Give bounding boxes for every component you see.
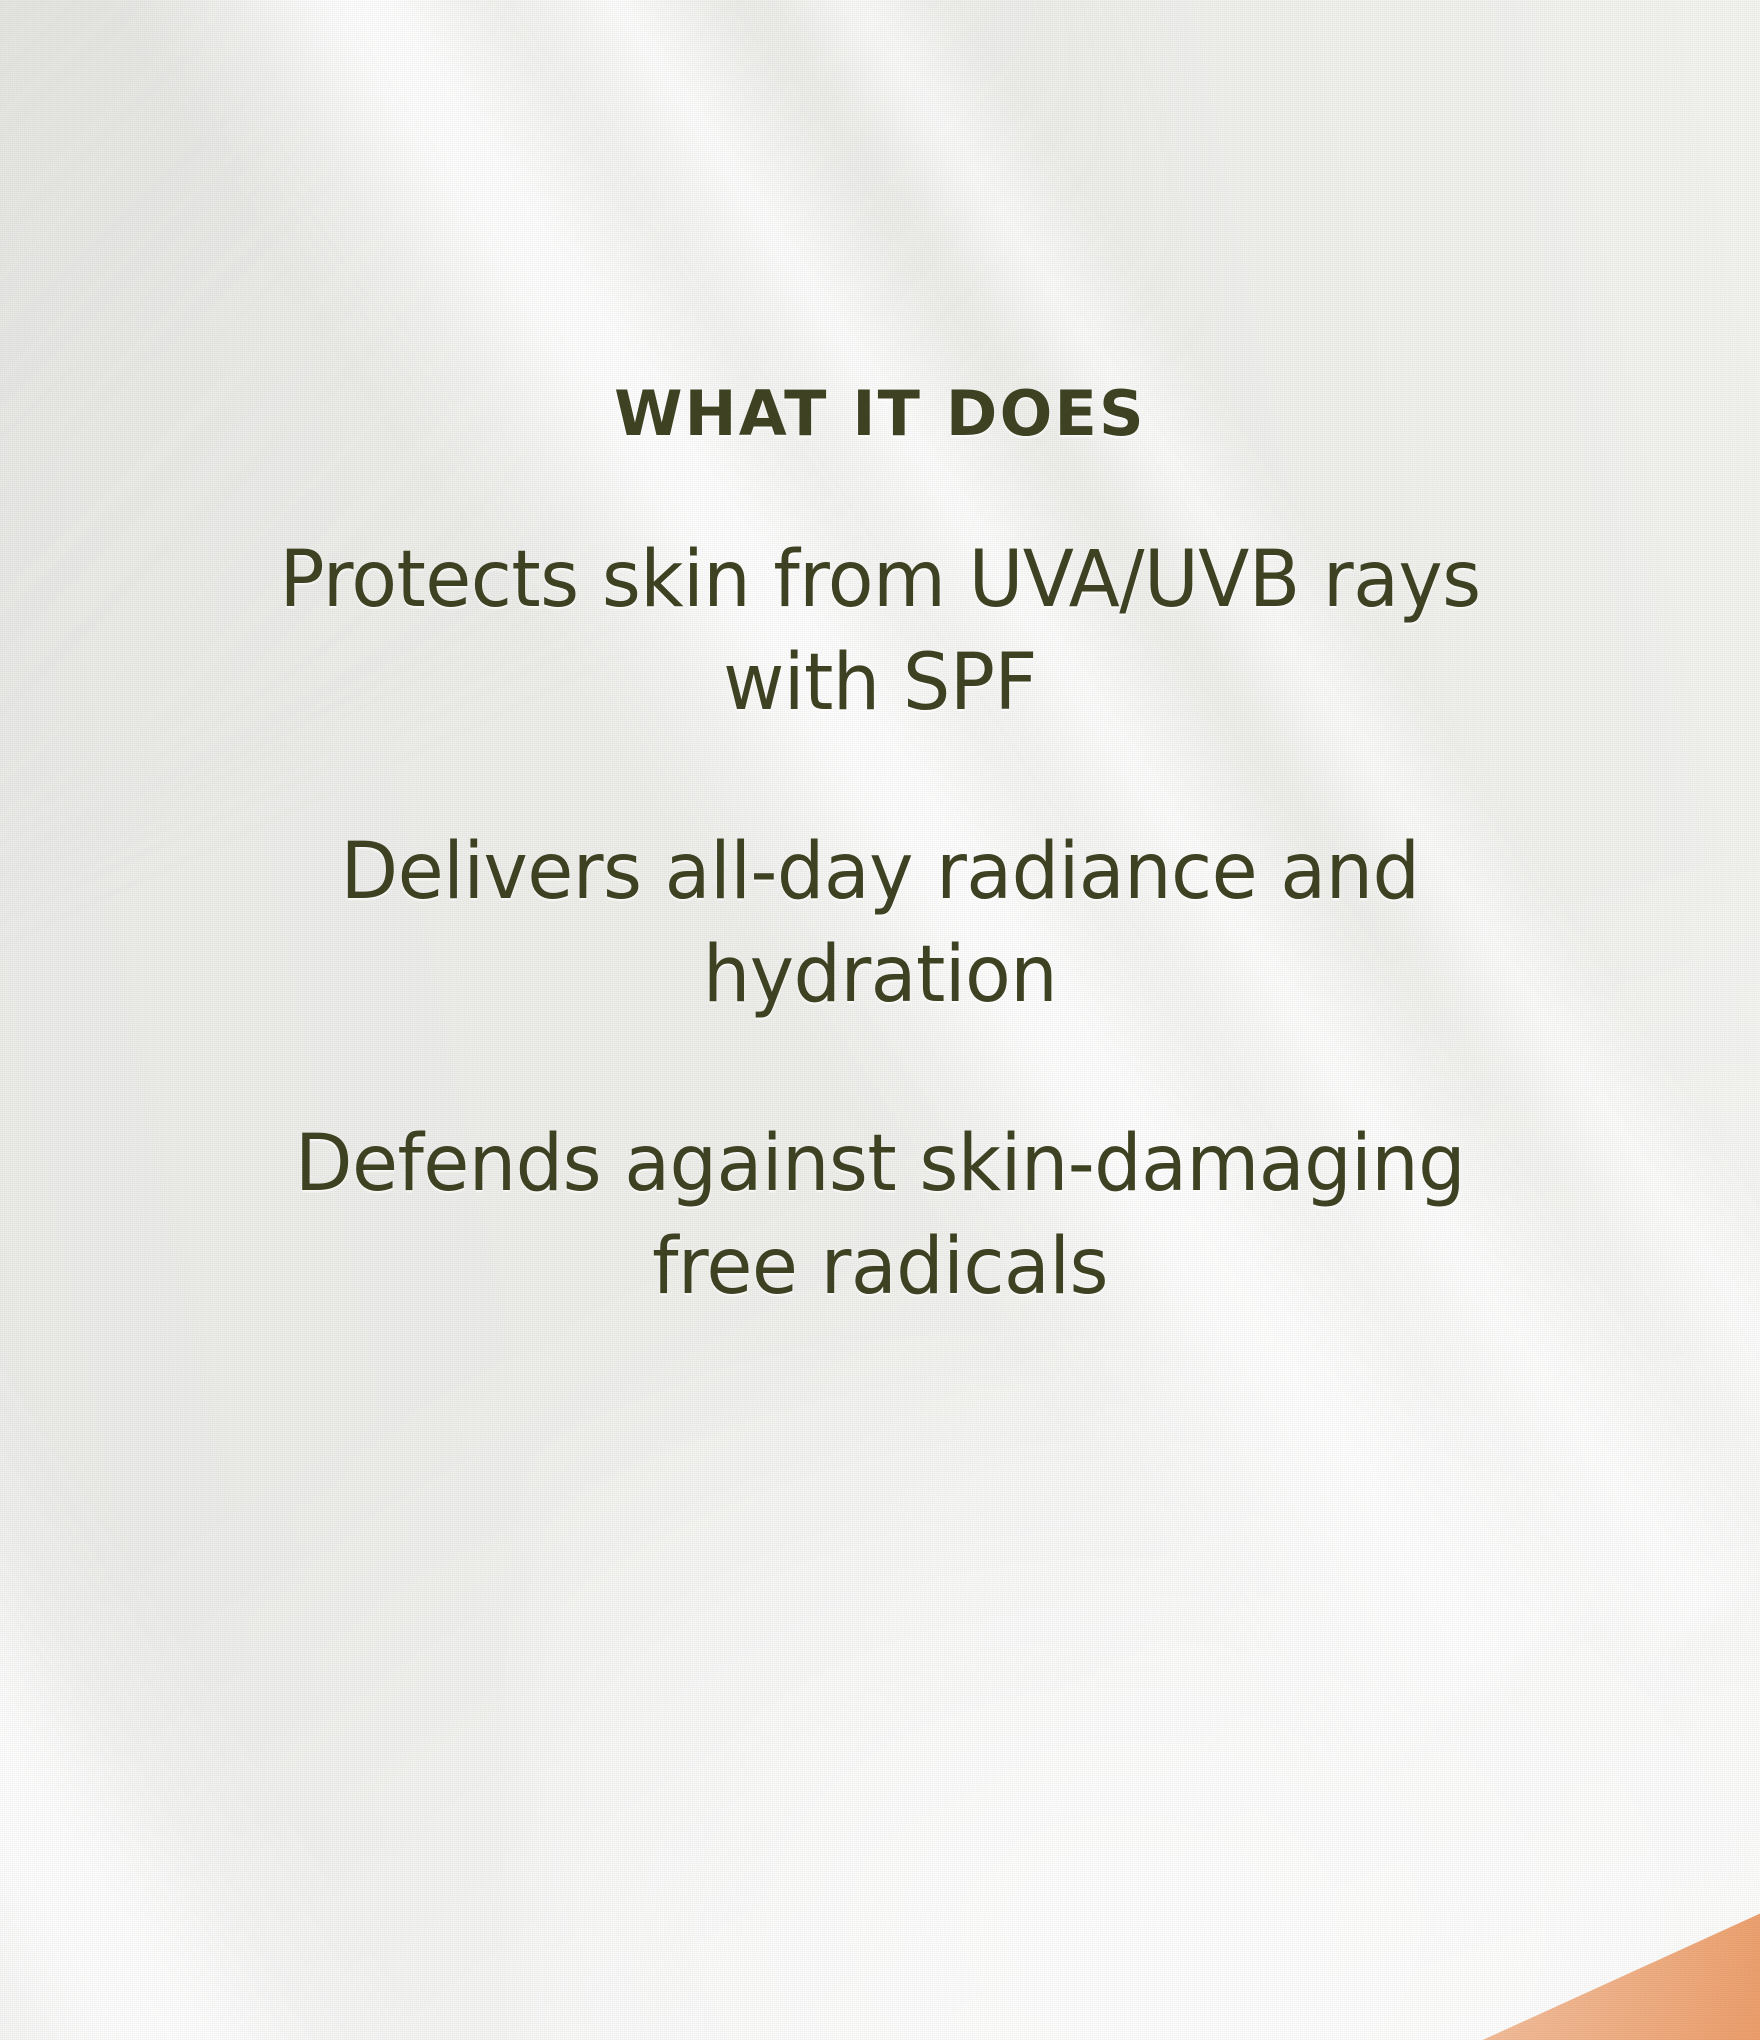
product-benefits-card: WHAT IT DOES Protects skin from UVA/UVB … bbox=[0, 0, 1760, 2040]
benefits-list: Protects skin from UVA/UVB rays with SPF… bbox=[90, 529, 1670, 1319]
benefit-item-1: Protects skin from UVA/UVB rays with SPF bbox=[242, 529, 1519, 735]
benefit-item-2: Delivers all-day radiance and hydration bbox=[242, 821, 1519, 1027]
benefit-item-3: Defends against skin-damaging free radic… bbox=[242, 1113, 1519, 1319]
section-eyebrow-heading: WHAT IT DOES bbox=[614, 383, 1146, 445]
benefits-content: WHAT IT DOES Protects skin from UVA/UVB … bbox=[0, 0, 1760, 2040]
